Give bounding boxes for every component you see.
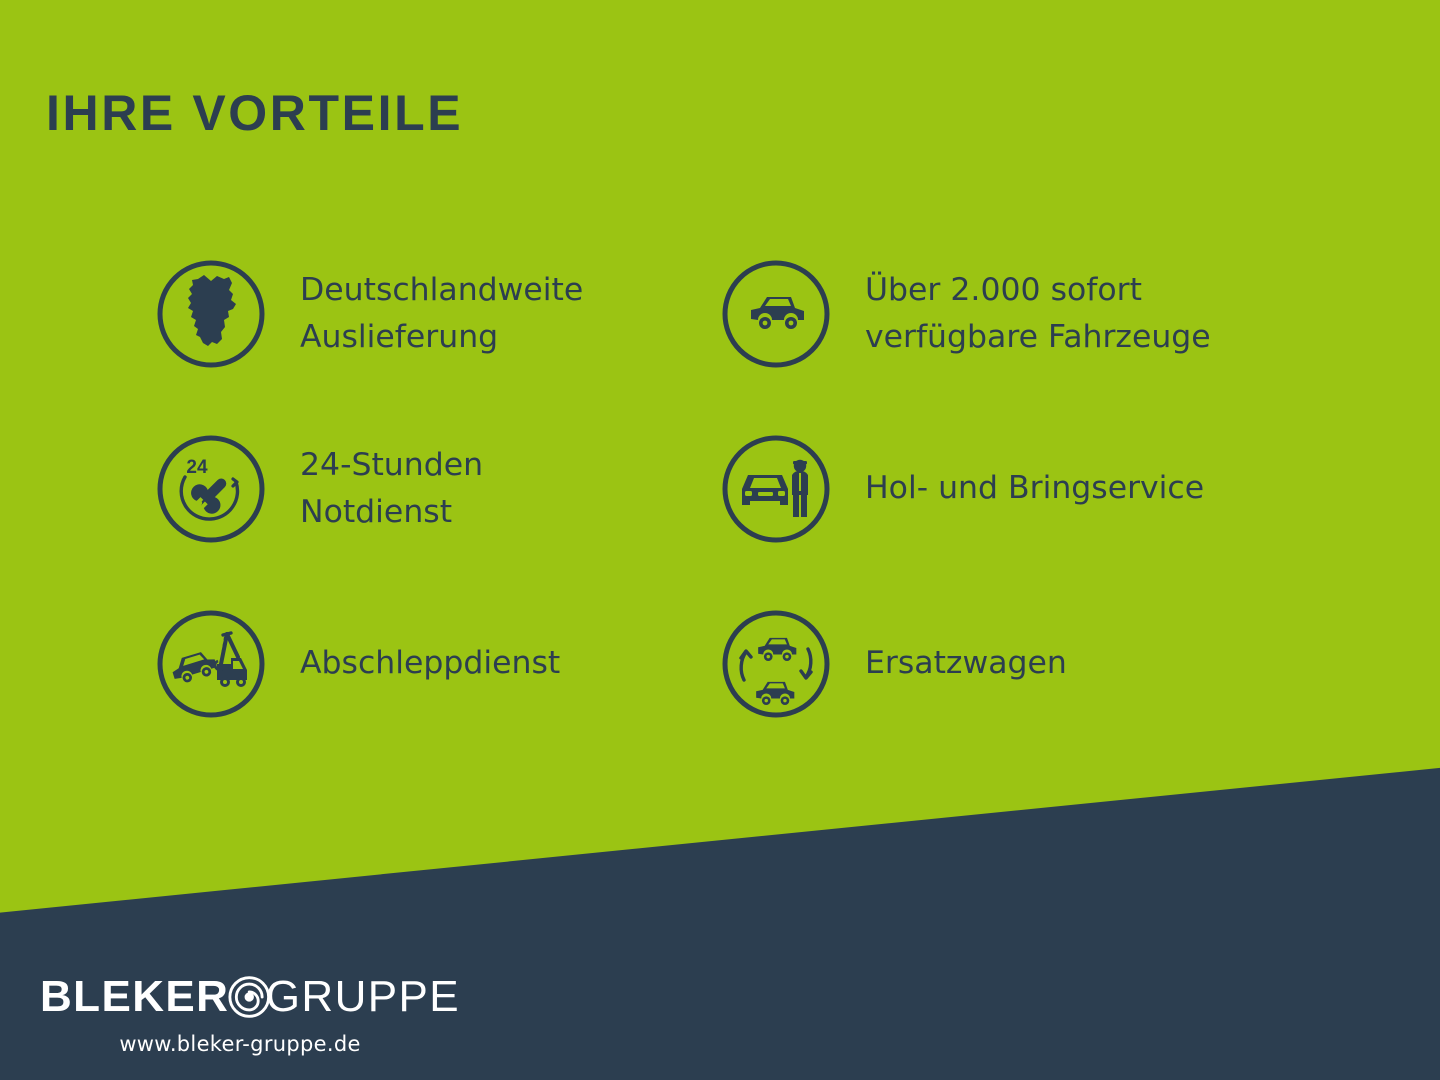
two-cars-swap-icon — [720, 608, 832, 720]
benefit-label: Abschleppdienst — [300, 640, 560, 686]
page-title: IHRE VORTEILE — [46, 88, 463, 138]
company-logo: BLEKER GRUPPE www.bleker-gruppe.de — [40, 967, 460, 1056]
logo-primary-text: BLEKER — [40, 975, 229, 1019]
benefit-item-verfuegbare-fahrzeuge: Über 2.000 sofort verfügbare Fahrzeuge — [720, 226, 1335, 401]
24-hours-wrench-icon: 24 — [155, 433, 267, 545]
benefit-item-ersatzwagen: Ersatzwagen — [720, 576, 1335, 751]
benefit-label: 24-Stunden Notdienst — [300, 442, 483, 535]
logo-wordmark: BLEKER GRUPPE — [40, 967, 460, 1027]
benefit-item-abschleppdienst: Abschleppdienst — [155, 576, 720, 751]
benefit-item-24-stunden-notdienst: 24 24-Stunden Notdienst — [155, 401, 720, 576]
car-with-driver-icon — [720, 433, 832, 545]
logo-secondary-text: GRUPPE — [266, 975, 460, 1019]
benefit-label: Ersatzwagen — [865, 640, 1067, 686]
benefit-item-hol-und-bringservice: Hol- und Bringservice — [720, 401, 1335, 576]
germany-map-icon — [155, 258, 267, 370]
benefit-label: Deutschlandweite Auslieferung — [300, 267, 583, 360]
benefit-label: Über 2.000 sofort verfügbare Fahrzeuge — [865, 267, 1211, 360]
24-hours-icon-text: 24 — [186, 457, 208, 478]
benefit-item-deutschlandweite-auslieferung: Deutschlandweite Auslieferung — [155, 226, 720, 401]
website-url: www.bleker-gruppe.de — [40, 1032, 440, 1056]
benefit-label: Hol- und Bringservice — [865, 465, 1204, 511]
benefits-grid: Deutschlandweite Auslieferung Über 2.000… — [155, 226, 1335, 751]
car-icon — [720, 258, 832, 370]
tow-truck-icon — [155, 608, 267, 720]
slide-canvas: IHRE VORTEILE Deutschlandweite Ausliefer… — [0, 0, 1440, 1080]
